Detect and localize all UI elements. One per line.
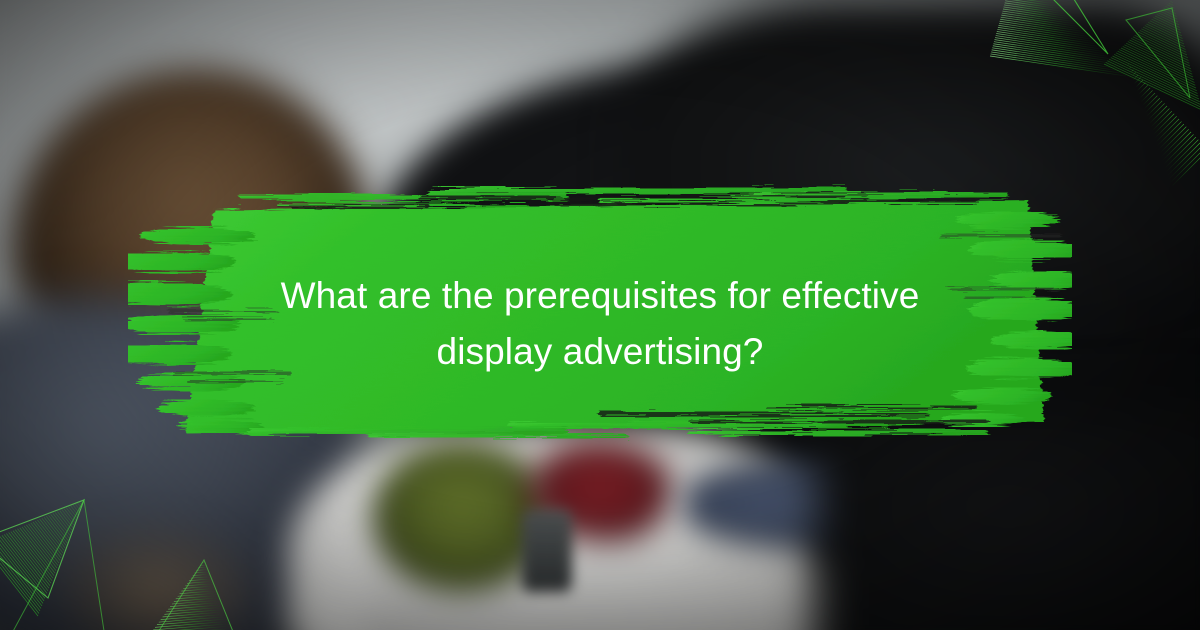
social-card: What are the prerequisites for effective… [0, 0, 1200, 630]
page-title: What are the prerequisites for effective… [200, 268, 1000, 380]
